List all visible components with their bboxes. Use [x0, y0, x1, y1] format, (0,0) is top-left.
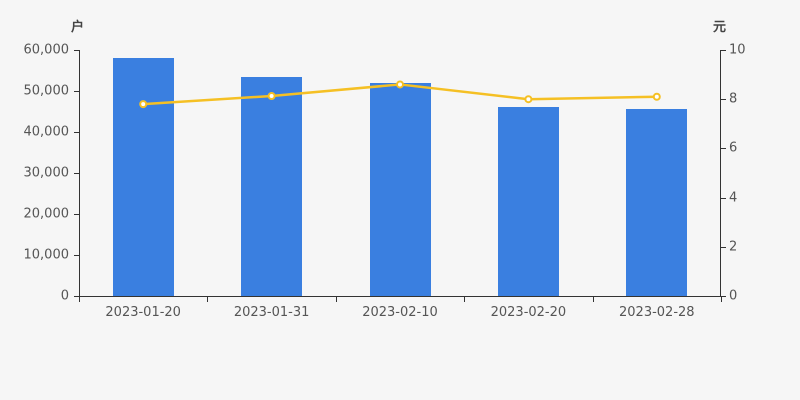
y-axis-tick-label: 60,000 [24, 43, 70, 58]
y2-axis-tick-label: 0 [729, 289, 737, 304]
plot-area: 2023-01-20: 7.8 元2023-01-31: 8.13 元2023-… [79, 50, 721, 296]
y2-axis-tick-mark [721, 99, 726, 100]
x-axis-category-label: 2023-02-28 [619, 305, 695, 320]
y-axis-tick-label: 50,000 [24, 84, 70, 99]
x-axis-category-label: 2023-01-20 [105, 305, 181, 320]
bar-item[interactable] [241, 77, 302, 296]
y-axis-tick-label: 20,000 [24, 207, 70, 222]
y2-axis-tick-label: 8 [729, 92, 737, 107]
y2-axis-tick-label: 2 [729, 239, 737, 254]
x-axis-tick-mark [593, 297, 594, 302]
y2-axis-tick-mark [721, 148, 726, 149]
bar-item[interactable] [498, 107, 559, 296]
y2-axis-tick-label: 6 [729, 141, 737, 156]
y-axis-tick-label: 0 [61, 289, 69, 304]
x-axis-category-label: 2023-02-10 [362, 305, 438, 320]
x-axis-tick-mark [721, 297, 722, 302]
line-data-point[interactable]: 2023-02-20: 8 元 [525, 96, 531, 102]
left-axis-unit-label: 户 [71, 16, 84, 35]
bar-item[interactable] [113, 58, 174, 296]
bar-item[interactable] [626, 109, 687, 296]
y-axis-tick-label: 10,000 [24, 248, 70, 263]
x-axis-category-label: 2023-02-20 [491, 305, 567, 320]
y2-axis-tick-mark [721, 198, 726, 199]
y2-axis-tick-label: 10 [729, 43, 746, 58]
x-axis-category-label: 2023-01-31 [234, 305, 310, 320]
y-axis-tick-label: 40,000 [24, 125, 70, 140]
y2-axis-tick-mark [721, 50, 726, 51]
y2-axis-tick-label: 4 [729, 190, 737, 205]
x-axis-tick-mark [79, 297, 80, 302]
y-axis-tick-label: 30,000 [24, 166, 70, 181]
y2-axis-tick-mark [721, 247, 726, 248]
line-data-point[interactable]: 2023-02-28: 8.1 元 [654, 94, 660, 100]
bar-item[interactable] [370, 83, 431, 296]
x-axis-tick-mark [336, 297, 337, 302]
right-axis-unit-label: 元 [713, 16, 726, 35]
x-axis-tick-mark [464, 297, 465, 302]
x-axis-tick-mark [207, 297, 208, 302]
chart-container: 户 元 010,00020,00030,00040,00050,00060,00… [0, 0, 800, 400]
x-axis-line [79, 296, 721, 297]
